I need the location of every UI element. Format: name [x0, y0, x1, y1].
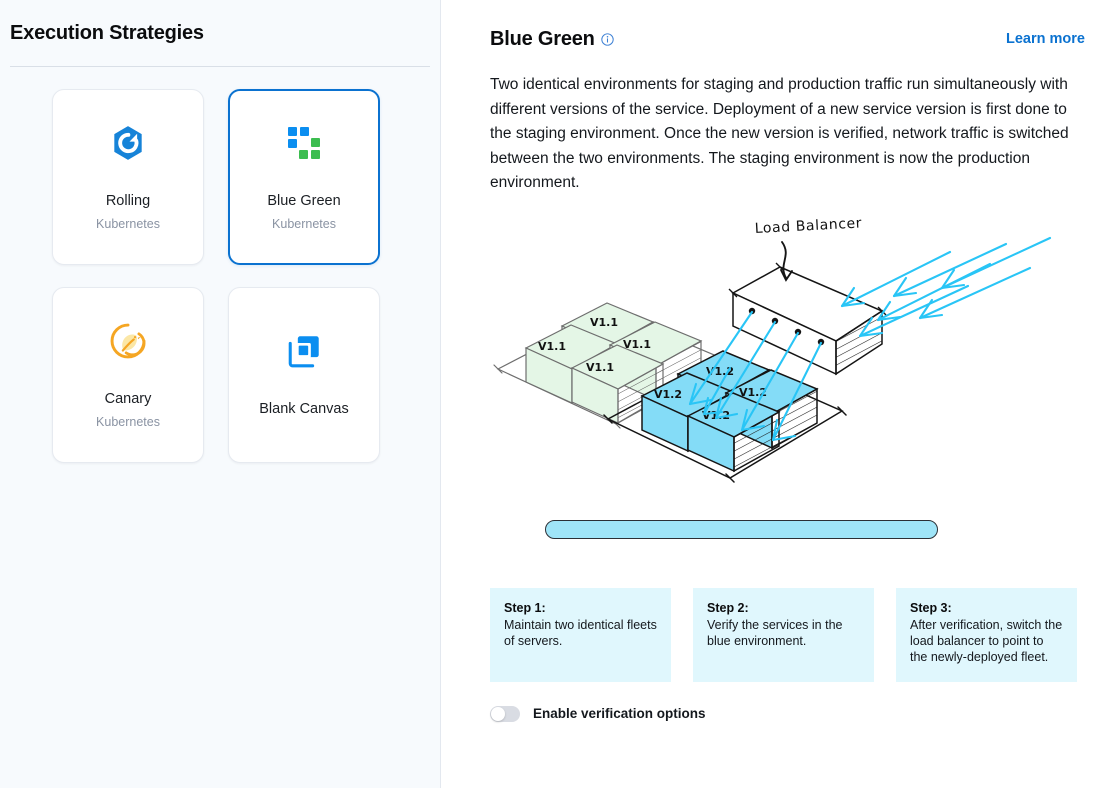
enable-verification-label: Enable verification options [533, 706, 706, 721]
strategy-card-subtitle: Kubernetes [96, 217, 160, 231]
step-card-1: Step 1: Maintain two identical fleets of… [490, 588, 671, 682]
toggle-knob [491, 707, 505, 721]
strategy-card-subtitle: Kubernetes [96, 415, 160, 429]
enable-verification-toggle[interactable] [490, 706, 520, 722]
detail-header: Blue Green Learn more [490, 24, 1095, 54]
step-body: Maintain two identical fleets of servers… [504, 617, 657, 649]
detail-description: Two identical environments for staging a… [490, 73, 1086, 196]
strategy-card-canary[interactable]: Canary Kubernetes [52, 287, 204, 463]
canary-bird-icon [108, 321, 148, 361]
strategy-card-name: Blank Canvas [259, 401, 348, 418]
strategy-card-blank-canvas[interactable]: Blank Canvas [228, 287, 380, 463]
strategy-card-name: Blue Green [267, 193, 340, 210]
info-circle-icon[interactable] [601, 33, 614, 46]
rolling-hexagon-refresh-icon [108, 123, 148, 163]
svg-text:V1.2: V1.2 [654, 388, 682, 401]
blue-green-isometric-diagram: V1.1 V1.1 V1.1 [490, 208, 1090, 578]
verification-toggle-row: Enable verification options [490, 706, 1095, 722]
svg-text:V1.1: V1.1 [586, 361, 614, 374]
svg-text:V1.1: V1.1 [538, 340, 566, 353]
page-title: Execution Strategies [0, 0, 440, 45]
strategy-card-blue-green[interactable]: Blue Green Kubernetes [228, 89, 380, 265]
learn-more-link[interactable]: Learn more [1006, 31, 1095, 47]
svg-text:V1.2: V1.2 [706, 365, 734, 378]
blue-green-squares-icon [284, 123, 324, 163]
svg-text:Load Balancer: Load Balancer [754, 215, 862, 237]
strategy-card-name: Canary [105, 391, 152, 408]
strategy-card-subtitle: Kubernetes [272, 217, 336, 231]
detail-title-wrap: Blue Green [490, 28, 614, 51]
step-body: After verification, switch the load bala… [910, 617, 1063, 665]
strategy-list-panel: Execution Strategies Rolling Kubernetes [0, 0, 441, 788]
step-title: Step 2: [707, 601, 860, 615]
steps-row: Step 1: Maintain two identical fleets of… [490, 588, 1095, 682]
execution-strategies-page: Execution Strategies Rolling Kubernetes [0, 0, 1119, 788]
step-card-2: Step 2: Verify the services in the blue … [693, 588, 874, 682]
detail-title: Blue Green [490, 28, 595, 51]
step-title: Step 3: [910, 601, 1063, 615]
strategy-card-grid: Rolling Kubernetes Blue Green Kubern [0, 67, 440, 463]
blank-canvas-layers-icon [284, 331, 324, 371]
strategy-card-rolling[interactable]: Rolling Kubernetes [52, 89, 204, 265]
step-title: Step 1: [504, 601, 657, 615]
step-card-3: Step 3: After verification, switch the l… [896, 588, 1077, 682]
strategy-detail-panel: Blue Green Learn more Two identical envi… [441, 0, 1119, 788]
strategy-card-name: Rolling [106, 193, 150, 210]
svg-text:V1.1: V1.1 [590, 316, 618, 329]
step-body: Verify the services in the blue environm… [707, 617, 860, 649]
